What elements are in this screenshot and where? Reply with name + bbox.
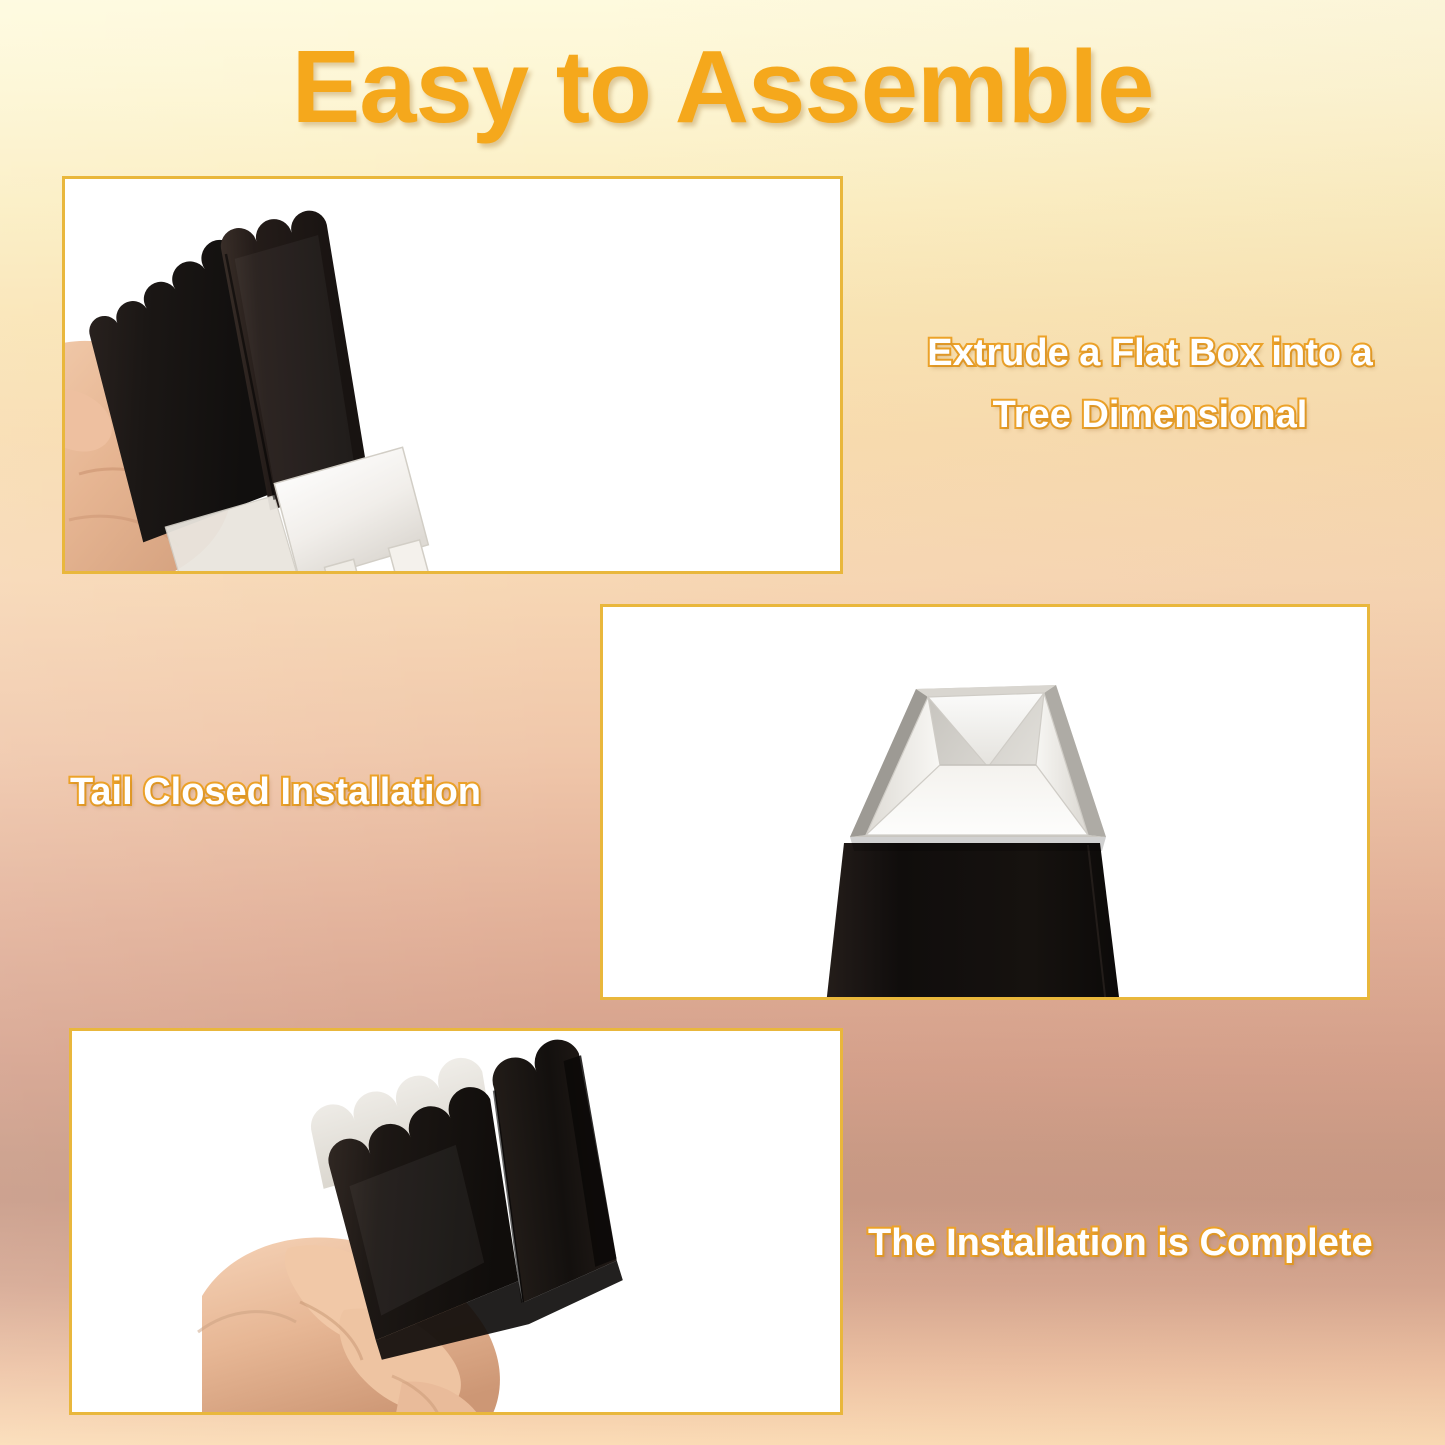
step-2-caption: Tail Closed Installation [70, 762, 481, 824]
step-1-photo-panel [62, 176, 843, 574]
step-3-photo [72, 1031, 840, 1412]
step-1-caption-line-1: Extrude a Flat Box into a [880, 323, 1420, 385]
step-1-caption: Extrude a Flat Box into a Tree Dimension… [880, 323, 1420, 446]
infographic-canvas: Easy to Assemble [0, 0, 1445, 1445]
step-2-photo-panel [600, 604, 1370, 1000]
step-3-caption: The Installation is Complete [868, 1213, 1373, 1275]
box-bottom-flaps-graphic [788, 645, 1208, 1000]
page-title: Easy to Assemble [0, 28, 1445, 146]
flat-box-graphic [93, 183, 593, 574]
step-3-photo-panel [69, 1028, 843, 1415]
step-1-caption-line-2: Tree Dimensional [880, 385, 1420, 447]
assembled-box-graphic [267, 1028, 687, 1403]
step-2-photo [603, 607, 1367, 997]
step-1-photo [65, 179, 840, 571]
